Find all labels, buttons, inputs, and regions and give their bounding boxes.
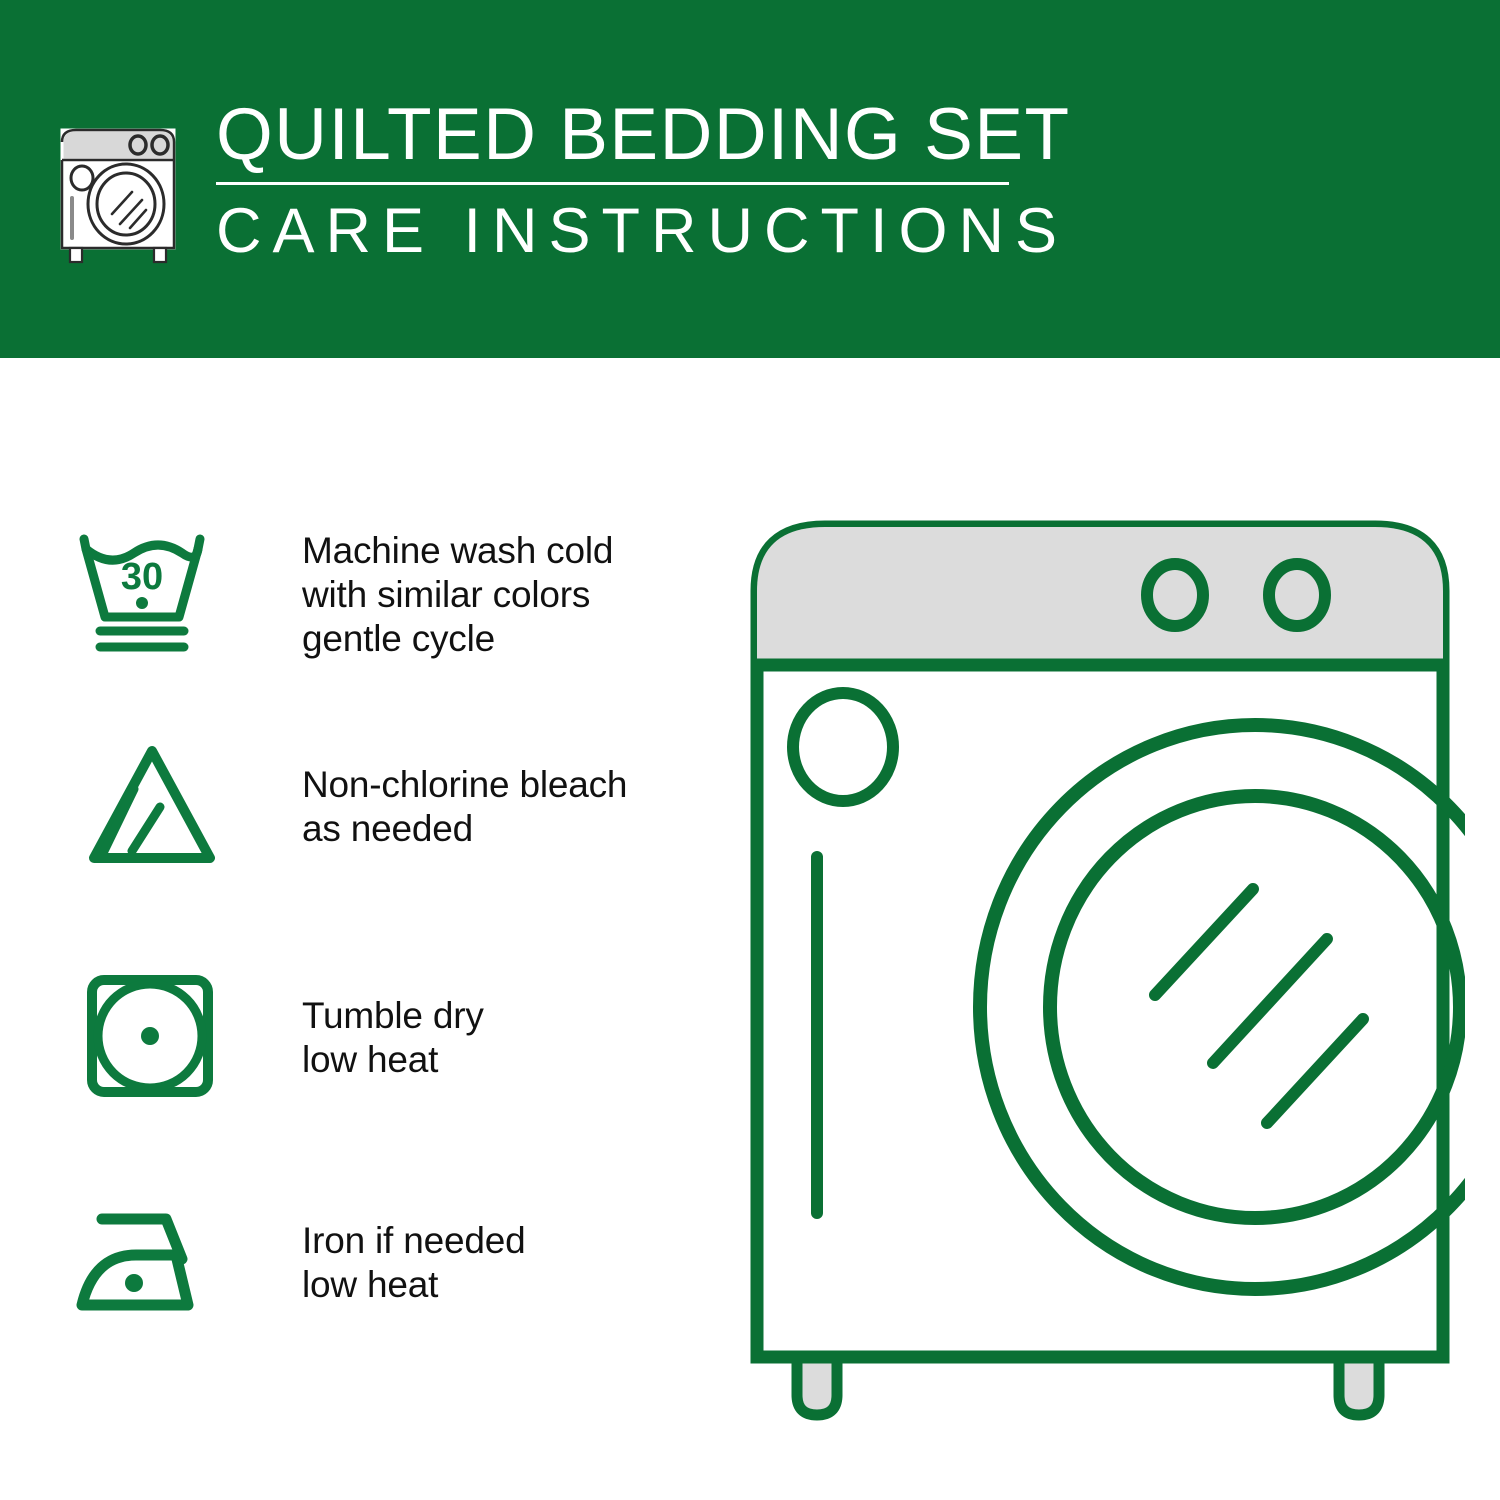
title-divider [216, 182, 1009, 185]
machine-feet [797, 1357, 1379, 1415]
page-subtitle: CARE INSTRUCTIONS [216, 197, 1071, 265]
front-load-washing-machine-illustration [735, 495, 1465, 1425]
tumble-dry-low-icon [72, 966, 232, 1106]
header-titles: QUILTED BEDDING SET CARE INSTRUCTIONS [216, 96, 1071, 265]
care-row-bleach: Non-chlorine bleach as needed [72, 733, 712, 873]
page-title: QUILTED BEDDING SET [216, 96, 1071, 174]
care-instructions-list: 30 Machine wash cold with similar colors… [0, 358, 740, 1500]
care-row-iron: Iron if needed low heat [72, 1193, 712, 1333]
care-text-tumble-dry: Tumble dry low heat [302, 994, 484, 1082]
care-text-bleach: Non-chlorine bleach as needed [302, 763, 627, 851]
header-content: QUILTED BEDDING SET CARE INSTRUCTIONS [56, 96, 1071, 270]
care-row-machine-wash: 30 Machine wash cold with similar colors… [72, 523, 712, 663]
control-panel [757, 527, 1443, 665]
header-banner: QUILTED BEDDING SET CARE INSTRUCTIONS [0, 0, 1500, 358]
care-row-tumble-dry: Tumble dry low heat [72, 966, 712, 1106]
iron-low-heat-icon [72, 1193, 232, 1333]
care-text-iron: Iron if needed low heat [302, 1219, 525, 1307]
wash-temperature-label: 30 [121, 556, 163, 598]
wash-tub-30-gentle-icon: 30 [72, 523, 232, 663]
care-text-machine-wash: Machine wash cold with similar colors ge… [302, 529, 613, 661]
non-chlorine-bleach-triangle-icon [72, 733, 232, 873]
washing-machine-icon [56, 102, 188, 270]
